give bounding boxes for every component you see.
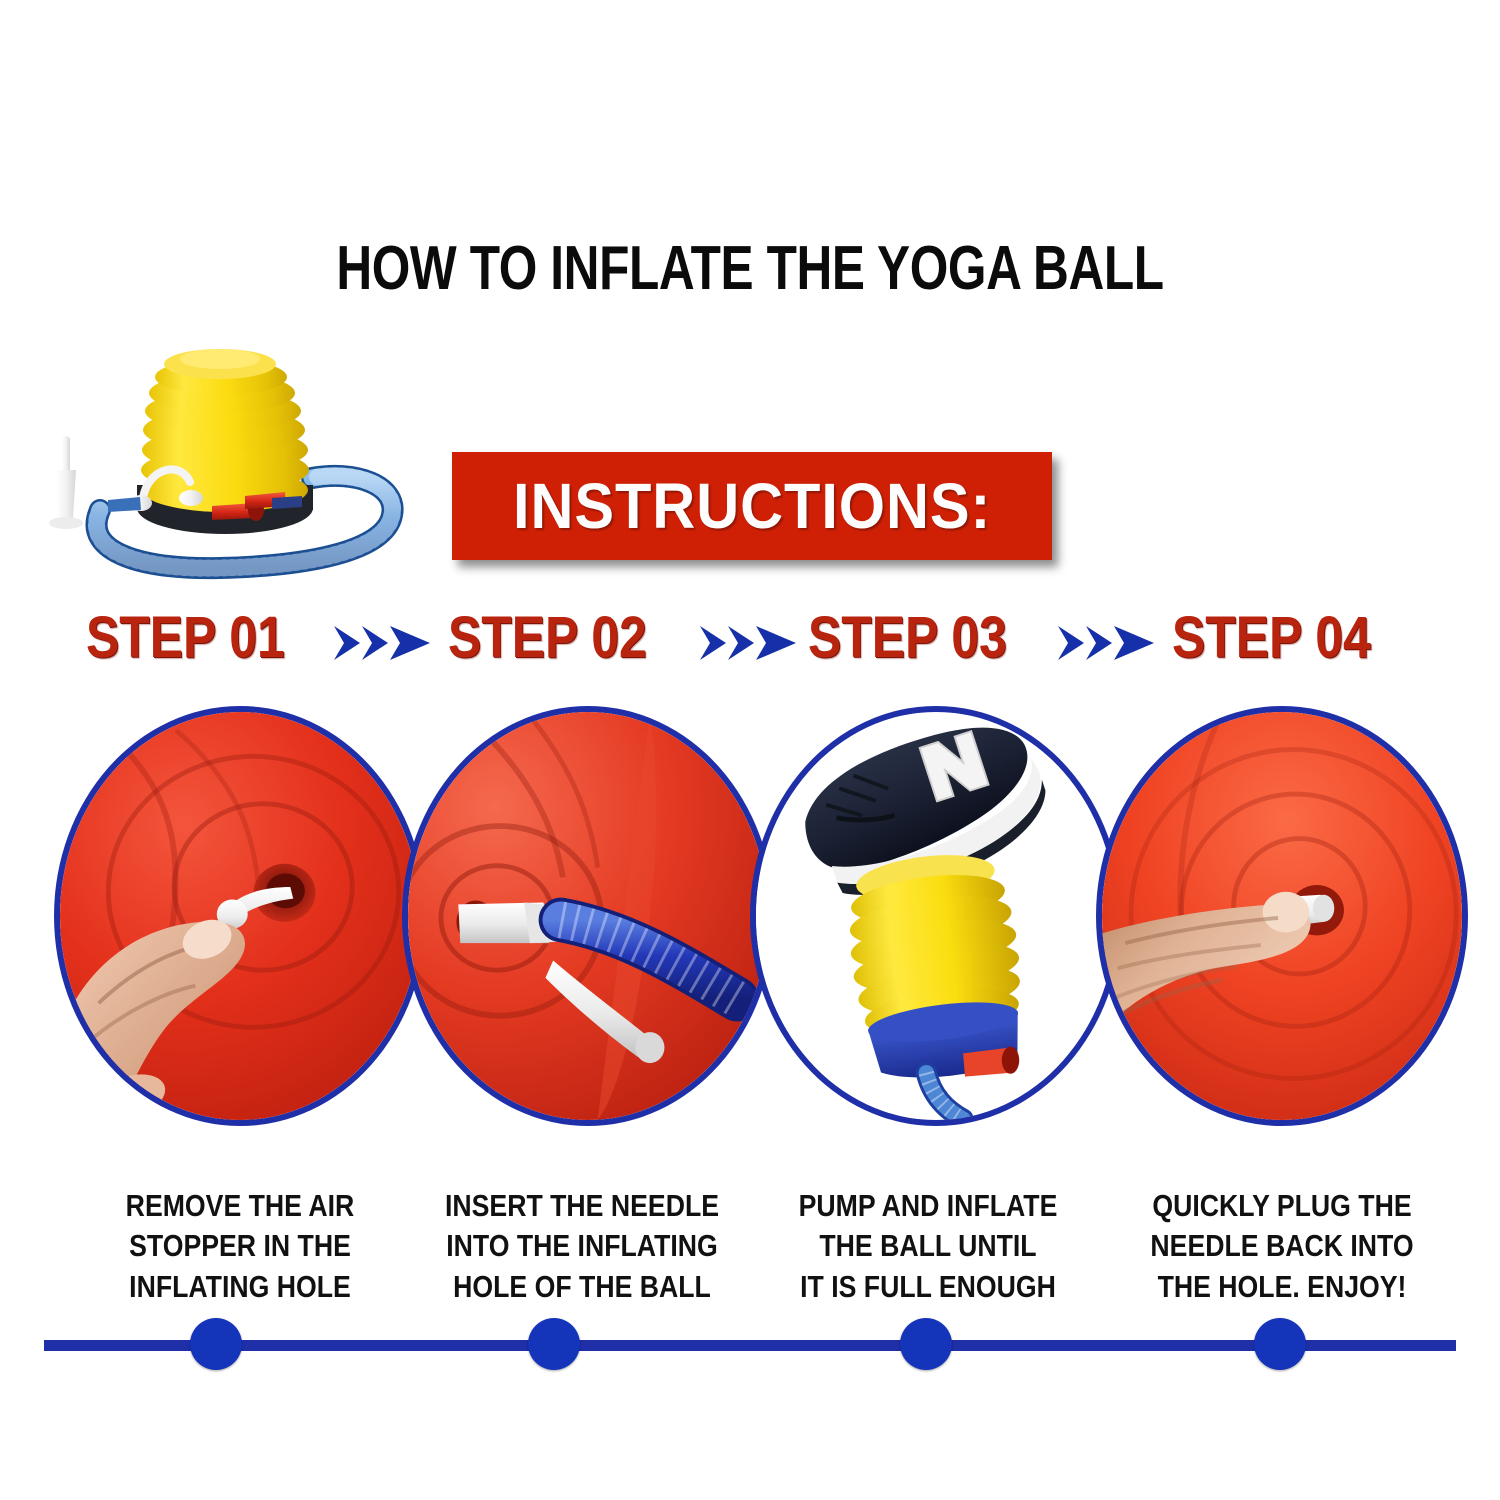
step-image-2-needle-inserted (402, 706, 774, 1126)
step-label-03: STEP 03 (808, 604, 1007, 672)
step-label-row: STEP 01 STEP 02 STEP 03 (0, 604, 1500, 684)
step-caption-1-line-1: REMOVE THE AIR (89, 1186, 392, 1226)
step-image-3-shoe-pressing-pump (750, 706, 1122, 1126)
step-caption-3-line-1: PUMP AND INFLATE (773, 1186, 1083, 1226)
instructions-banner: INSTRUCTIONS: (452, 452, 1052, 560)
step-caption-4-line-2: NEEDLE BACK INTO (1122, 1226, 1442, 1266)
step-caption-4-line-3: THE HOLE. ENJOY! (1122, 1267, 1442, 1307)
step-caption-1: REMOVE THE AIR STOPPER IN THE INFLATING … (89, 1186, 392, 1307)
step-caption-1-line-3: INFLATING HOLE (89, 1267, 392, 1307)
step-caption-3-line-3: IT IS FULL ENOUGH (773, 1267, 1083, 1307)
triple-chevron-right-icon-3 (1056, 618, 1160, 668)
triple-chevron-right-icon-1 (332, 618, 436, 668)
timeline-dot-2 (528, 1318, 580, 1370)
step-caption-2-line-2: INTO THE INFLATING (424, 1226, 740, 1266)
step-label-01: STEP 01 (86, 604, 285, 672)
timeline-line (44, 1340, 1456, 1351)
step-caption-4: QUICKLY PLUG THE NEEDLE BACK INTO THE HO… (1122, 1186, 1442, 1307)
timeline-dot-3 (900, 1318, 952, 1370)
step-image-1-hand-removing-stopper (54, 706, 426, 1126)
timeline-dot-1 (190, 1318, 242, 1370)
timeline-dot-4 (1254, 1318, 1306, 1370)
triple-chevron-right-icon-2 (698, 618, 802, 668)
step-image-row (0, 706, 1500, 1146)
step-label-04: STEP 04 (1172, 604, 1371, 672)
instructions-banner-label: INSTRUCTIONS: (513, 469, 991, 543)
step-label-02: STEP 02 (448, 604, 647, 672)
infographic-canvas: HOW TO INFLATE THE YOGA BALL (0, 0, 1500, 1500)
step-caption-4-line-1: QUICKLY PLUG THE (1122, 1186, 1442, 1226)
step-caption-2-line-1: INSERT THE NEEDLE (424, 1186, 740, 1226)
step-caption-3-line-2: THE BALL UNTIL (773, 1226, 1083, 1266)
step-caption-2-line-3: HOLE OF THE BALL (424, 1267, 740, 1307)
product-photo-foot-pump (40, 320, 440, 590)
step-caption-2: INSERT THE NEEDLE INTO THE INFLATING HOL… (424, 1186, 740, 1307)
step-caption-3: PUMP AND INFLATE THE BALL UNTIL IT IS FU… (773, 1186, 1083, 1307)
step-image-4-finger-plugging-stopper (1096, 706, 1468, 1126)
page-title: HOW TO INFLATE THE YOGA BALL (150, 236, 1350, 301)
step-caption-1-line-2: STOPPER IN THE (89, 1226, 392, 1266)
